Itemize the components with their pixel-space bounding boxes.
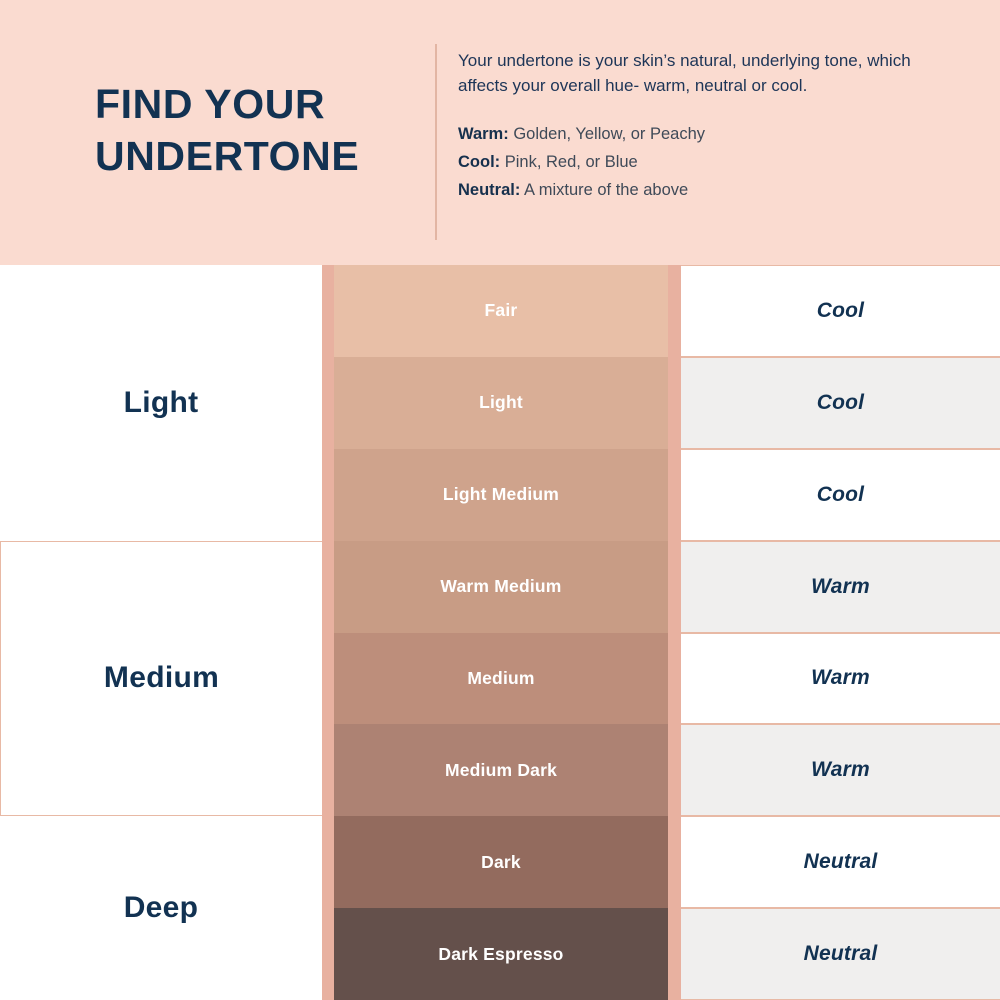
shade-label: Fair	[485, 300, 518, 321]
undertone-label: Warm	[811, 758, 870, 782]
undertone-row: Warm	[681, 724, 1000, 816]
shade-label: Dark Espresso	[438, 944, 563, 965]
depth-group-deep: Deep	[0, 816, 322, 1000]
depth-group-label: Deep	[124, 891, 199, 925]
shade-chart: LightMediumDeep FairLightLight MediumWar…	[0, 265, 1000, 1000]
undertone-row: Cool	[681, 357, 1000, 449]
undertone-infographic: FIND YOUR UNDERTONE Your undertone is yo…	[0, 0, 1000, 1000]
shade-label: Warm Medium	[440, 576, 561, 597]
shade-swatch-column: FairLightLight MediumWarm MediumMediumMe…	[322, 265, 681, 1000]
undertone-row: Cool	[681, 265, 1000, 357]
tone-term-warm: Warm:	[458, 125, 509, 143]
undertone-row: Warm	[681, 541, 1000, 633]
tone-desc-cool: Pink, Red, or Blue	[500, 153, 638, 171]
shade-swatch: Medium Dark	[334, 724, 668, 816]
shade-swatch: Fair	[334, 265, 668, 357]
header-banner: FIND YOUR UNDERTONE Your undertone is yo…	[0, 0, 1000, 265]
undertone-label: Neutral	[804, 850, 878, 874]
shade-swatch: Dark Espresso	[334, 908, 668, 1000]
tone-term-cool: Cool:	[458, 153, 500, 171]
page-title: FIND YOUR UNDERTONE	[95, 78, 425, 182]
shade-swatch: Dark	[334, 816, 668, 908]
tone-desc-warm: Golden, Yellow, or Peachy	[509, 125, 705, 143]
undertone-row: Warm	[681, 633, 1000, 725]
tone-term-neutral: Neutral:	[458, 181, 520, 199]
depth-group-medium: Medium	[0, 541, 322, 817]
tone-definition-neutral: Neutral: A mixture of the above	[458, 176, 918, 204]
shade-label: Light	[479, 392, 523, 413]
tone-definition-cool: Cool: Pink, Red, or Blue	[458, 148, 918, 176]
depth-group-label: Light	[124, 386, 199, 420]
intro-paragraph: Your undertone is your skin’s natural, u…	[458, 48, 918, 98]
depth-group-light: Light	[0, 265, 322, 541]
shade-label: Dark	[481, 852, 521, 873]
page-title-line-1: FIND YOUR	[95, 78, 425, 130]
shade-label: Medium	[467, 668, 534, 689]
page-title-line-2: UNDERTONE	[95, 130, 425, 182]
undertone-label: Cool	[817, 391, 864, 415]
undertone-label: Warm	[811, 575, 870, 599]
shade-swatch: Light Medium	[334, 449, 668, 541]
undertone-label: Warm	[811, 666, 870, 690]
undertone-label: Cool	[817, 483, 864, 507]
tone-desc-neutral: A mixture of the above	[520, 181, 688, 199]
depth-group-label: Medium	[104, 661, 219, 695]
undertone-label: Cool	[817, 299, 864, 323]
undertone-label: Neutral	[804, 942, 878, 966]
shade-label: Medium Dark	[445, 760, 557, 781]
depth-group-column: LightMediumDeep	[0, 265, 322, 1000]
shade-swatch: Medium	[334, 633, 668, 725]
header-vertical-divider	[435, 44, 437, 240]
undertone-column: CoolCoolCoolWarmWarmWarmNeutralNeutral	[681, 265, 1000, 1000]
tone-definition-warm: Warm: Golden, Yellow, or Peachy	[458, 120, 918, 148]
shade-swatch: Warm Medium	[334, 541, 668, 633]
header-description-block: Your undertone is your skin’s natural, u…	[458, 48, 918, 204]
undertone-row: Cool	[681, 449, 1000, 541]
undertone-row: Neutral	[681, 908, 1000, 1000]
shade-label: Light Medium	[443, 484, 559, 505]
undertone-row: Neutral	[681, 816, 1000, 908]
shade-swatch: Light	[334, 357, 668, 449]
